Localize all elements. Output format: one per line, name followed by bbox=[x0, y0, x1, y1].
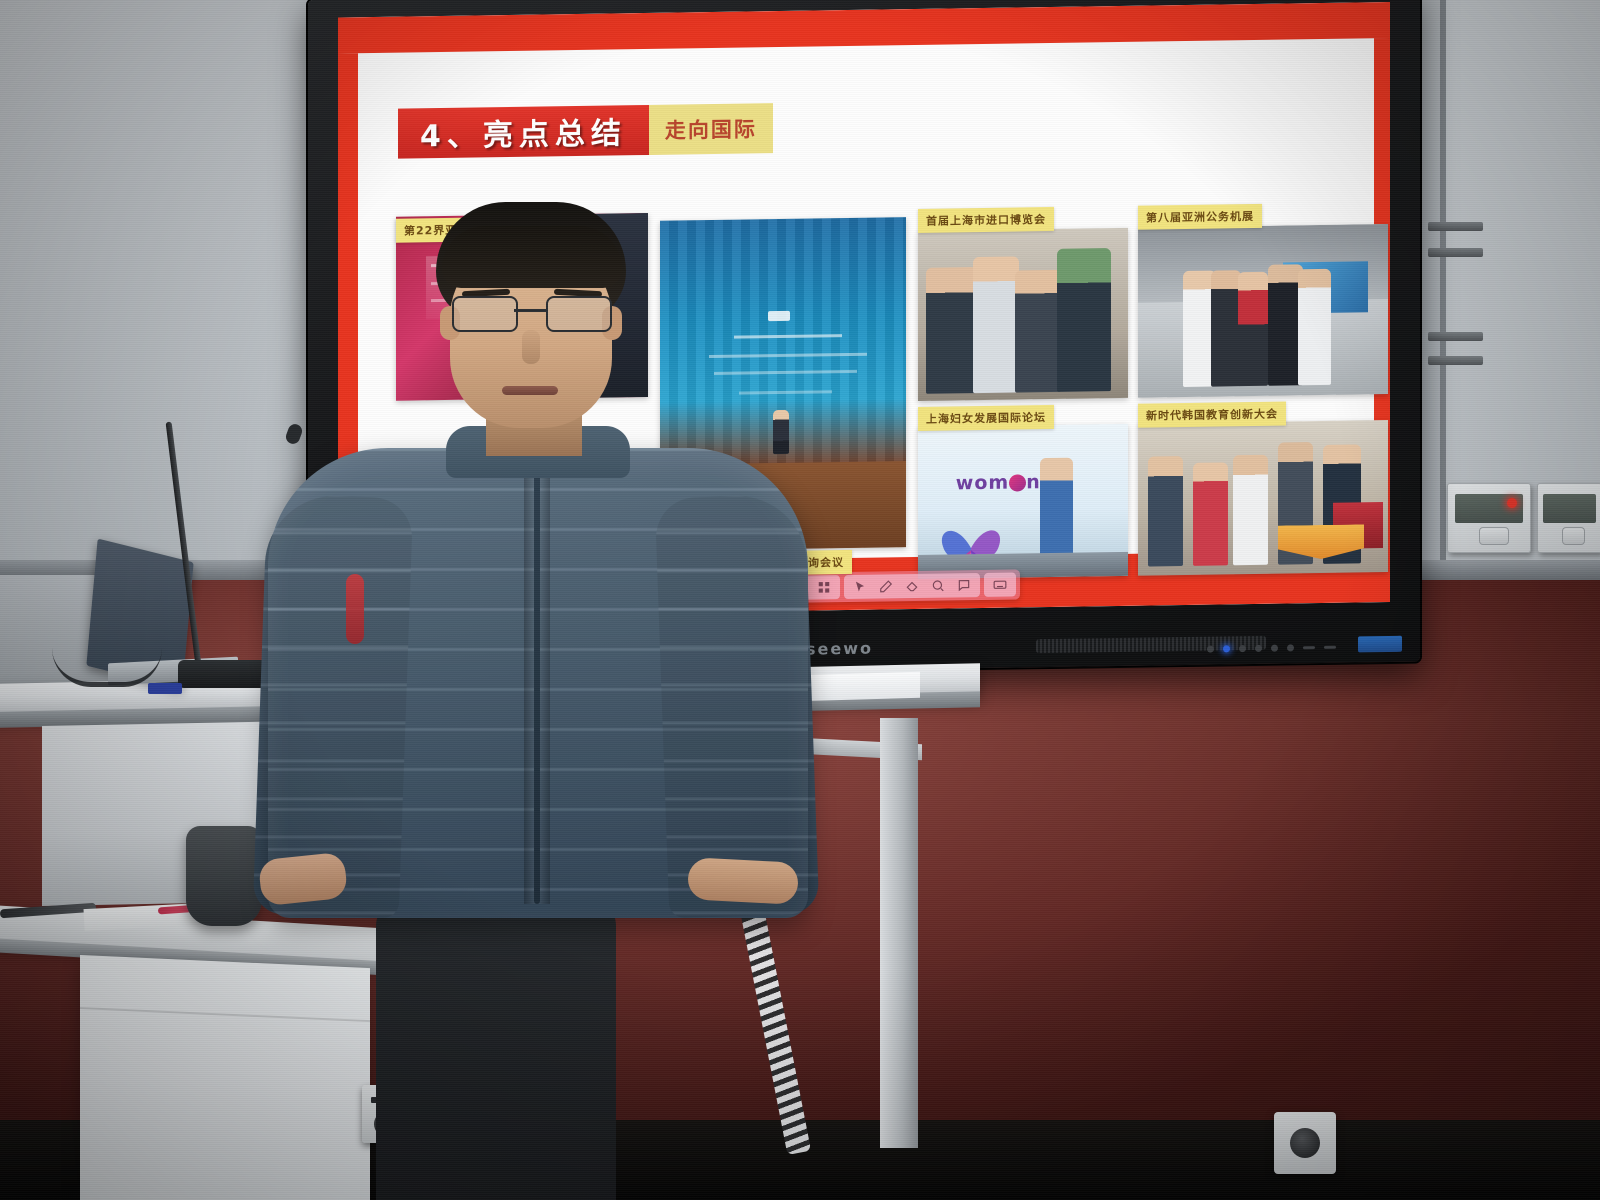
outlet-socket bbox=[1290, 1128, 1320, 1158]
volume-down-button[interactable] bbox=[1271, 645, 1278, 652]
photo-detail bbox=[926, 267, 976, 394]
pen-icon[interactable] bbox=[873, 574, 899, 598]
presenter-legs bbox=[376, 896, 616, 1200]
photo-korea-education bbox=[1138, 420, 1388, 576]
annotate-icon[interactable] bbox=[951, 573, 977, 597]
photo-detail bbox=[1238, 272, 1268, 386]
wall-seam bbox=[1440, 0, 1446, 585]
presenter-glasses bbox=[446, 296, 618, 330]
photo-women-forum: womn bbox=[918, 424, 1128, 579]
home-indicator-button[interactable] bbox=[1223, 645, 1230, 652]
women-logo-o-icon bbox=[1009, 474, 1026, 491]
photo-import-expo bbox=[918, 228, 1128, 401]
podium-leg bbox=[880, 718, 918, 1148]
photo-detail bbox=[1193, 462, 1228, 566]
wall-control-panel[interactable] bbox=[1537, 483, 1600, 553]
photo-business-aviation bbox=[1138, 224, 1388, 398]
minus-button[interactable] bbox=[1303, 646, 1315, 649]
photo-detail bbox=[1148, 456, 1183, 566]
presenter-hair-front bbox=[442, 226, 622, 288]
wall-bracket bbox=[1428, 356, 1483, 365]
toolbar-group-input bbox=[984, 572, 1016, 596]
photo-caption: 上海妇女发展国际论坛 bbox=[918, 405, 1054, 431]
women-logo: womn bbox=[956, 471, 1041, 494]
glasses-left-lens bbox=[452, 296, 518, 332]
photo-detail bbox=[1233, 455, 1268, 565]
photo-detail bbox=[1298, 269, 1331, 385]
menu-button[interactable] bbox=[1255, 645, 1262, 652]
photo-detail bbox=[973, 257, 1019, 394]
floor-outlet[interactable] bbox=[1274, 1112, 1336, 1174]
photo-detail bbox=[1211, 270, 1241, 386]
keyboard-icon[interactable] bbox=[987, 573, 1013, 597]
plus-button[interactable] bbox=[1324, 646, 1336, 649]
cursor-arrow-icon[interactable] bbox=[847, 575, 873, 599]
glasses-right-lens bbox=[546, 296, 612, 332]
presenter-mouth bbox=[502, 386, 558, 395]
magnifier-icon[interactable] bbox=[925, 573, 951, 597]
display-corner-label bbox=[1358, 636, 1402, 653]
status-led-icon bbox=[1507, 498, 1517, 508]
women-logo-text: wom bbox=[956, 471, 1009, 494]
photo-detail bbox=[1015, 270, 1061, 393]
glasses-bridge bbox=[514, 309, 546, 312]
slide-title-tag-text: 走向国际 bbox=[665, 113, 757, 144]
jacket-red-accent bbox=[346, 574, 364, 644]
wall-bracket bbox=[1428, 332, 1483, 341]
slide-title-tag-block: 走向国际 bbox=[649, 103, 773, 155]
volume-up-button[interactable] bbox=[1287, 644, 1294, 651]
panel-button[interactable] bbox=[1562, 527, 1585, 545]
presenter-right-hand bbox=[687, 857, 799, 905]
wall-bracket bbox=[1428, 248, 1483, 257]
toolbar-group-tools bbox=[844, 573, 980, 599]
panel-button[interactable] bbox=[1479, 527, 1509, 545]
lecture-room-scene: 4、亮点总结 走向国际 第22界亚洲国际 bbox=[0, 0, 1600, 1200]
photo-caption: 新时代韩国教育创新大会 bbox=[1138, 401, 1286, 427]
power-button[interactable] bbox=[1207, 646, 1214, 653]
blue-label-tag bbox=[148, 683, 182, 694]
slide-title-text: 4、亮点总结 bbox=[420, 108, 627, 155]
presenter bbox=[250, 196, 830, 1200]
eraser-icon[interactable] bbox=[899, 574, 925, 598]
photo-caption: 第八届亚洲公务机展 bbox=[1138, 204, 1262, 230]
photo-caption: 首届上海市进口博览会 bbox=[918, 207, 1054, 233]
source-button[interactable] bbox=[1239, 645, 1246, 652]
wall-control-panel[interactable] bbox=[1447, 483, 1531, 553]
women-logo-text2: n bbox=[1026, 471, 1041, 493]
jacket-zipper bbox=[534, 472, 540, 904]
slide-title-red-block: 4、亮点总结 bbox=[398, 105, 649, 159]
presenter-right-arm-quilting bbox=[655, 494, 820, 919]
presenter-nose bbox=[522, 330, 540, 364]
panel-screen bbox=[1543, 494, 1596, 524]
wall-bracket bbox=[1428, 222, 1483, 231]
photo-detail bbox=[1057, 248, 1112, 392]
slide-title: 4、亮点总结 走向国际 bbox=[398, 103, 773, 159]
